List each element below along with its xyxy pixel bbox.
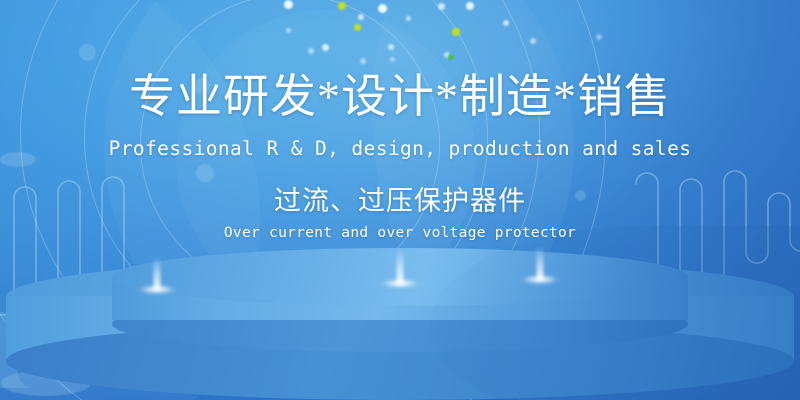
light-beam-center-pool [378, 278, 422, 289]
light-beam-right-pool [518, 274, 562, 285]
headline-chinese: 专业研发*设计*制造*销售 [0, 74, 800, 120]
promo-banner: 专业研发*设计*制造*销售 Professional R & D, design… [0, 0, 800, 400]
subheadline-english: Over current and over voltage protector [0, 226, 800, 241]
light-beam-left-pool [135, 284, 179, 295]
headline-english: Professional R & D, design, production a… [0, 139, 800, 159]
light-beam-center [378, 248, 422, 284]
subheadline-chinese: 过流、过压保护器件 [0, 188, 800, 215]
banner-text-block: 专业研发*设计*制造*销售 Professional R & D, design… [0, 0, 800, 240]
light-beam-right [518, 246, 562, 280]
light-beam-left [135, 256, 179, 290]
